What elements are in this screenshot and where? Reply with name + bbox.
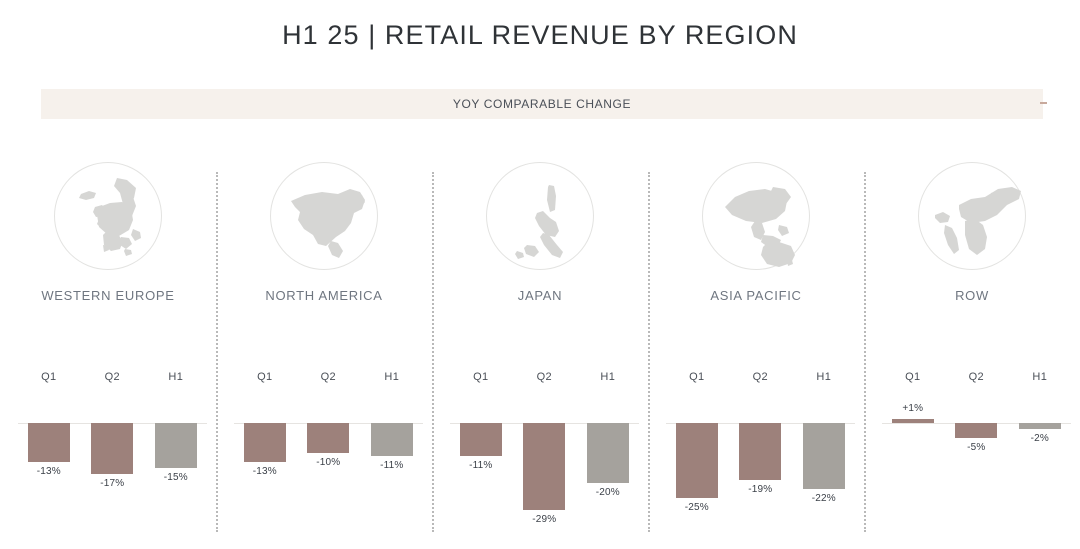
bar-value-label: -19% bbox=[733, 484, 787, 495]
europe-map-icon bbox=[54, 162, 162, 270]
bar-group: Q1-25%Q2-19%H1-22% bbox=[670, 365, 851, 530]
bar-column[interactable]: Q2-5% bbox=[949, 365, 1003, 530]
region-bar-chart: Q1+1%Q2-5%H1-2% bbox=[886, 365, 1067, 530]
bar-group: Q1+1%Q2-5%H1-2% bbox=[886, 365, 1067, 530]
subtitle-band-label: YOY COMPARABLE CHANGE bbox=[41, 89, 1043, 119]
bar-column[interactable]: Q2-17% bbox=[85, 365, 139, 530]
region-bar-chart: Q1-11%Q2-29%H1-20% bbox=[454, 365, 635, 530]
bar-group: Q1-13%Q2-17%H1-15% bbox=[22, 365, 203, 530]
region-panels: WESTERN EUROPEQ1-13%Q2-17%H1-15%NORTH AM… bbox=[0, 150, 1080, 540]
bar-value-label: -13% bbox=[22, 466, 76, 477]
band-end-marker bbox=[1040, 102, 1047, 104]
region-bar-chart: Q1-13%Q2-10%H1-11% bbox=[238, 365, 419, 530]
region-panel: JAPANQ1-11%Q2-29%H1-20% bbox=[432, 150, 648, 540]
bar-column[interactable]: Q2-10% bbox=[301, 365, 355, 530]
region-label: WESTERN EUROPE bbox=[0, 288, 216, 303]
world-map-icon bbox=[918, 162, 1026, 270]
japan-map-icon bbox=[486, 162, 594, 270]
region-panel: ASIA PACIFICQ1-25%Q2-19%H1-22% bbox=[648, 150, 864, 540]
bar-value-label: -22% bbox=[797, 493, 851, 504]
bar-column[interactable]: Q2-19% bbox=[733, 365, 787, 530]
region-panel: NORTH AMERICAQ1-13%Q2-10%H1-11% bbox=[216, 150, 432, 540]
bar-value-label: -11% bbox=[365, 460, 419, 471]
bar[interactable] bbox=[676, 423, 718, 498]
bar[interactable] bbox=[371, 423, 413, 456]
bar-value-label: -2% bbox=[1013, 433, 1067, 444]
region-label: JAPAN bbox=[432, 288, 648, 303]
bar[interactable] bbox=[587, 423, 629, 483]
bar-category-label: Q1 bbox=[454, 371, 508, 383]
bar[interactable] bbox=[1019, 423, 1061, 429]
subtitle-band: YOY COMPARABLE CHANGE bbox=[41, 89, 1043, 119]
bar-value-label: -5% bbox=[949, 442, 1003, 453]
bar-column[interactable]: H1-22% bbox=[797, 365, 851, 530]
bar-column[interactable]: H1-2% bbox=[1013, 365, 1067, 530]
region-panel: WESTERN EUROPEQ1-13%Q2-17%H1-15% bbox=[0, 150, 216, 540]
region-bar-chart: Q1-25%Q2-19%H1-22% bbox=[670, 365, 851, 530]
region-label: ASIA PACIFIC bbox=[648, 288, 864, 303]
bar-column[interactable]: Q1-13% bbox=[238, 365, 292, 530]
region-bar-chart: Q1-13%Q2-17%H1-15% bbox=[22, 365, 203, 530]
bar-category-label: H1 bbox=[1013, 371, 1067, 383]
bar[interactable] bbox=[244, 423, 286, 462]
bar-value-label: +1% bbox=[886, 403, 940, 414]
bar-group: Q1-11%Q2-29%H1-20% bbox=[454, 365, 635, 530]
bar-category-label: Q1 bbox=[670, 371, 724, 383]
bar-value-label: -10% bbox=[301, 457, 355, 468]
bar-column[interactable]: H1-11% bbox=[365, 365, 419, 530]
bar-column[interactable]: Q2-29% bbox=[517, 365, 571, 530]
region-panel: ROWQ1+1%Q2-5%H1-2% bbox=[864, 150, 1080, 540]
bar-category-label: Q1 bbox=[886, 371, 940, 383]
asia-pacific-map-icon bbox=[702, 162, 810, 270]
bar-value-label: -11% bbox=[454, 460, 508, 471]
bar-value-label: -13% bbox=[238, 466, 292, 477]
bar-column[interactable]: H1-20% bbox=[581, 365, 635, 530]
bar-category-label: H1 bbox=[797, 371, 851, 383]
bar[interactable] bbox=[892, 419, 934, 423]
bar-category-label: Q1 bbox=[22, 371, 76, 383]
bar-value-label: -15% bbox=[149, 472, 203, 483]
bar[interactable] bbox=[28, 423, 70, 462]
bar-value-label: -25% bbox=[670, 502, 724, 513]
bar-value-label: -17% bbox=[85, 478, 139, 489]
bar-category-label: Q2 bbox=[949, 371, 1003, 383]
bar-value-label: -29% bbox=[517, 514, 571, 525]
north-america-map-icon bbox=[270, 162, 378, 270]
bar-column[interactable]: H1-15% bbox=[149, 365, 203, 530]
bar[interactable] bbox=[523, 423, 565, 510]
region-label: ROW bbox=[864, 288, 1080, 303]
bar-column[interactable]: Q1+1% bbox=[886, 365, 940, 530]
bar-column[interactable]: Q1-11% bbox=[454, 365, 508, 530]
bar[interactable] bbox=[803, 423, 845, 489]
bar-category-label: Q2 bbox=[733, 371, 787, 383]
bar-group: Q1-13%Q2-10%H1-11% bbox=[238, 365, 419, 530]
bar-column[interactable]: Q1-13% bbox=[22, 365, 76, 530]
bar-category-label: Q2 bbox=[301, 371, 355, 383]
page-title: H1 25 | RETAIL REVENUE BY REGION bbox=[0, 20, 1080, 51]
bar-category-label: Q2 bbox=[85, 371, 139, 383]
bar[interactable] bbox=[460, 423, 502, 456]
bar[interactable] bbox=[155, 423, 197, 468]
bar-category-label: Q1 bbox=[238, 371, 292, 383]
bar[interactable] bbox=[955, 423, 997, 438]
region-label: NORTH AMERICA bbox=[216, 288, 432, 303]
bar-category-label: H1 bbox=[365, 371, 419, 383]
bar[interactable] bbox=[739, 423, 781, 480]
bar-category-label: H1 bbox=[149, 371, 203, 383]
bar-value-label: -20% bbox=[581, 487, 635, 498]
bar-category-label: H1 bbox=[581, 371, 635, 383]
bar[interactable] bbox=[91, 423, 133, 474]
bar-category-label: Q2 bbox=[517, 371, 571, 383]
bar-column[interactable]: Q1-25% bbox=[670, 365, 724, 530]
bar[interactable] bbox=[307, 423, 349, 453]
